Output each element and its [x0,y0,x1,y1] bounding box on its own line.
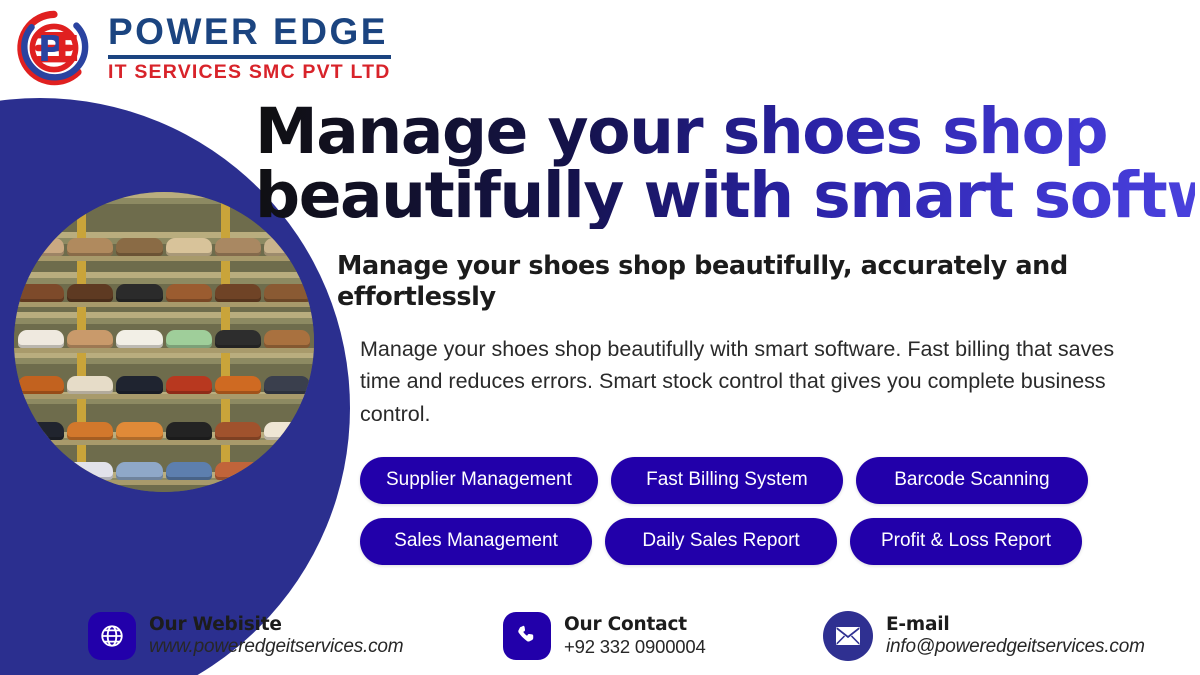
contact-footer: Our Webisite www.poweredgeitservices.com… [88,611,1178,661]
hero-subheadline: Manage your shoes shop beautifully, accu… [337,251,1097,313]
globe-icon [88,612,136,660]
contact-website[interactable]: Our Webisite www.poweredgeitservices.com [88,612,503,660]
brand-name: POWER EDGE [108,13,391,52]
feature-pill-fast-billing-system[interactable]: Fast Billing System [611,457,843,504]
contact-website-label: Our Webisite [149,614,403,636]
feature-pill-barcode-scanning[interactable]: Barcode Scanning [856,457,1088,504]
contact-website-value[interactable]: www.poweredgeitservices.com [149,636,403,658]
promo-banner: P E POWER EDGE IT SERVICES SMC PVT LTD M… [0,0,1200,675]
page-title: Manage your shoes shop beautifully with … [255,100,1195,229]
contact-phone-text: Our Contact +92 332 0900004 [564,614,706,658]
contact-website-text: Our Webisite www.poweredgeitservices.com [149,614,403,658]
phone-icon [503,612,551,660]
feature-pill-group: Supplier Management Fast Billing System … [360,457,1180,565]
power-edge-circular-monogram-icon: P E [14,8,94,88]
feature-pill-profit-loss-report[interactable]: Profit & Loss Report [850,518,1082,565]
feature-pill-row: Supplier Management Fast Billing System … [360,457,1180,504]
hero-content: Manage your shoes shop beautifully with … [255,100,1195,579]
envelope-icon [823,611,873,661]
contact-phone[interactable]: Our Contact +92 332 0900004 [503,612,823,660]
contact-email-text: E-mail info@poweredgeitservices.com [886,614,1145,658]
feature-pill-row: Sales Management Daily Sales Report Prof… [360,518,1180,565]
brand-wordmark: POWER EDGE IT SERVICES SMC PVT LTD [108,13,391,83]
contact-phone-label: Our Contact [564,614,706,636]
feature-pill-supplier-management[interactable]: Supplier Management [360,457,598,504]
feature-pill-sales-management[interactable]: Sales Management [360,518,592,565]
contact-email-value[interactable]: info@poweredgeitservices.com [886,636,1145,658]
headline-line-2: beautifully with smart software [255,164,1195,228]
brand-divider [108,55,391,59]
brand-logo[interactable]: P E POWER EDGE IT SERVICES SMC PVT LTD [14,8,391,88]
contact-email-label: E-mail [886,614,1145,636]
contact-phone-value[interactable]: +92 332 0900004 [564,636,706,658]
headline-line-1: Manage your shoes shop [255,95,1107,168]
hero-body-copy: Manage your shoes shop beautifully with … [360,333,1160,431]
brand-tagline: IT SERVICES SMC PVT LTD [108,62,391,83]
feature-pill-daily-sales-report[interactable]: Daily Sales Report [605,518,837,565]
svg-text:E: E [56,29,80,70]
contact-email[interactable]: E-mail info@poweredgeitservices.com [823,611,1163,661]
